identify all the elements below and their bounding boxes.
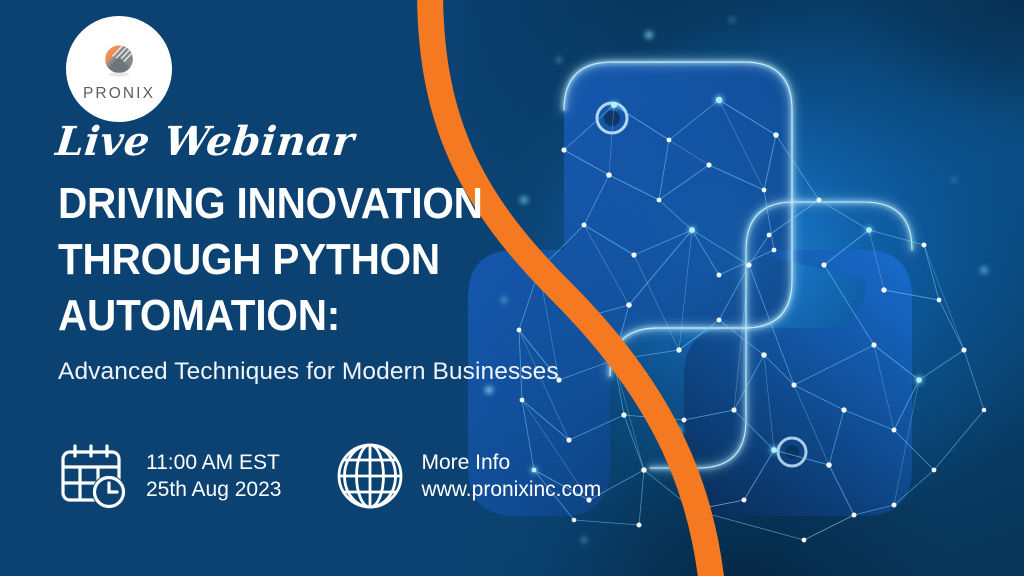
website-url[interactable]: www.pronixinc.com <box>421 476 601 503</box>
subtitle: Advanced Techniques for Modern Businesse… <box>58 358 559 386</box>
schedule-text: 11:00 AM EST 25th Aug 2023 <box>146 449 281 503</box>
webinar-time: 11:00 AM EST <box>146 449 281 476</box>
pronix-logo-badge: PRONIX <box>66 16 172 122</box>
pronix-sphere-logo-icon <box>96 38 142 84</box>
page-title: DRIVING INNOVATION THROUGH PYTHON AUTOMA… <box>58 176 444 344</box>
headline-line-1: DRIVING INNOVATION <box>58 176 444 232</box>
headline-line-3: AUTOMATION: <box>58 288 444 344</box>
info-row: 11:00 AM EST 25th Aug 2023 More Info www… <box>58 440 601 512</box>
schedule-info: 11:00 AM EST 25th Aug 2023 <box>58 440 281 512</box>
eyebrow-live-webinar: Live Webinar <box>54 118 357 165</box>
pronix-wordmark: PRONIX <box>83 85 155 103</box>
website-info[interactable]: More Info www.pronixinc.com <box>335 441 601 511</box>
webinar-poster: PRONIX Live Webinar DRIVING INNOVATION T… <box>0 0 1024 576</box>
more-info-label: More Info <box>421 449 601 476</box>
headline-line-2: THROUGH PYTHON <box>58 232 444 288</box>
webinar-date: 25th Aug 2023 <box>146 476 281 503</box>
globe-icon <box>335 441 405 511</box>
calendar-clock-icon <box>58 440 130 512</box>
website-text: More Info www.pronixinc.com <box>421 449 601 503</box>
